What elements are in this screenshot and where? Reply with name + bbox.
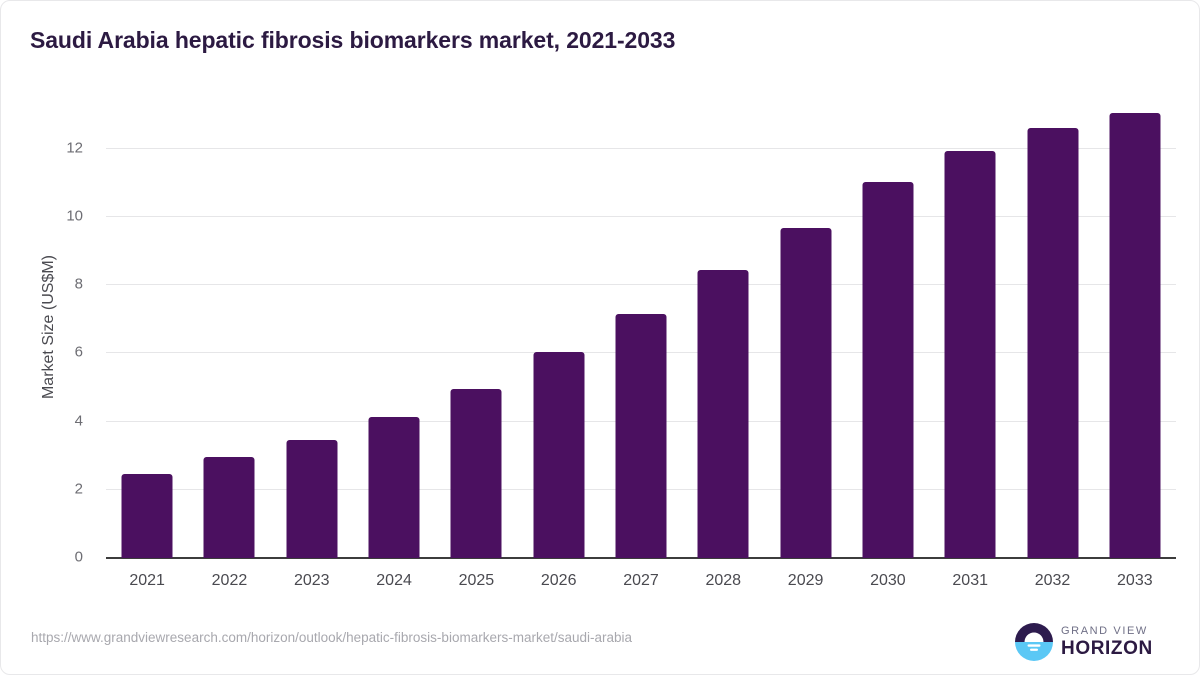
- bar[interactable]: [780, 228, 831, 558]
- bar-slot: [847, 97, 929, 558]
- y-axis-tick-label: 0: [43, 549, 83, 566]
- bar-slot: [764, 97, 846, 558]
- x-axis-tick-label: 2030: [847, 572, 929, 590]
- bar[interactable]: [533, 352, 584, 558]
- x-axis-tick-label: 2021: [106, 572, 188, 590]
- bar-slot: [929, 97, 1011, 558]
- bar-slot: [682, 97, 764, 558]
- y-axis-tick-label: 8: [43, 276, 83, 293]
- bar[interactable]: [122, 474, 173, 558]
- y-axis-tick-label: 6: [43, 344, 83, 361]
- bar-slot: [518, 97, 600, 558]
- bar[interactable]: [1027, 128, 1078, 558]
- bar[interactable]: [945, 151, 996, 558]
- x-axis-tick-label: 2033: [1094, 572, 1176, 590]
- grand-view-horizon-logo[interactable]: GRAND VIEW HORIZON: [1015, 621, 1165, 663]
- bar-slot: [600, 97, 682, 558]
- bar[interactable]: [698, 270, 749, 558]
- bar-slot: [353, 97, 435, 558]
- bar[interactable]: [204, 457, 255, 558]
- x-axis-tick-label: 2022: [188, 572, 270, 590]
- x-axis-tick-label: 2031: [929, 572, 1011, 590]
- logo-bottom-text: HORIZON: [1061, 638, 1153, 659]
- bar-slot: [106, 97, 188, 558]
- bar[interactable]: [862, 182, 913, 558]
- bar[interactable]: [369, 417, 420, 559]
- bar[interactable]: [1109, 113, 1160, 558]
- x-axis-tick-label: 2023: [271, 572, 353, 590]
- y-axis-tick-label: 2: [43, 480, 83, 497]
- bar[interactable]: [615, 314, 666, 558]
- bar-slot: [1011, 97, 1093, 558]
- logo-wordmark: GRAND VIEW HORIZON: [1061, 625, 1153, 659]
- bar[interactable]: [451, 389, 502, 558]
- x-axis-tick-label: 2032: [1011, 572, 1093, 590]
- x-axis-tick-label: 2028: [682, 572, 764, 590]
- chart-card: Saudi Arabia hepatic fibrosis biomarkers…: [0, 0, 1200, 675]
- y-axis-tick-label: 4: [43, 412, 83, 429]
- x-axis-tick-label: 2025: [435, 572, 517, 590]
- bar-slot: [188, 97, 270, 558]
- bar-slot: [271, 97, 353, 558]
- horizon-sun-icon: [1015, 623, 1053, 661]
- bar-slot: [435, 97, 517, 558]
- x-axis-tick-label: 2024: [353, 572, 435, 590]
- source-url[interactable]: https://www.grandviewresearch.com/horizo…: [31, 630, 632, 645]
- bar-series: [106, 97, 1176, 558]
- x-axis-tick-label: 2029: [764, 572, 846, 590]
- x-axis-tick-label: 2027: [600, 572, 682, 590]
- logo-top-text: GRAND VIEW: [1061, 625, 1153, 638]
- chart-plot: Market Size (US$M) 024681012 20212022202…: [1, 1, 1200, 675]
- x-axis-tick-label: 2026: [518, 572, 600, 590]
- y-axis-tick-label: 12: [43, 139, 83, 156]
- y-axis-tick-label: 10: [43, 208, 83, 225]
- bar-slot: [1094, 97, 1176, 558]
- bar[interactable]: [286, 440, 337, 558]
